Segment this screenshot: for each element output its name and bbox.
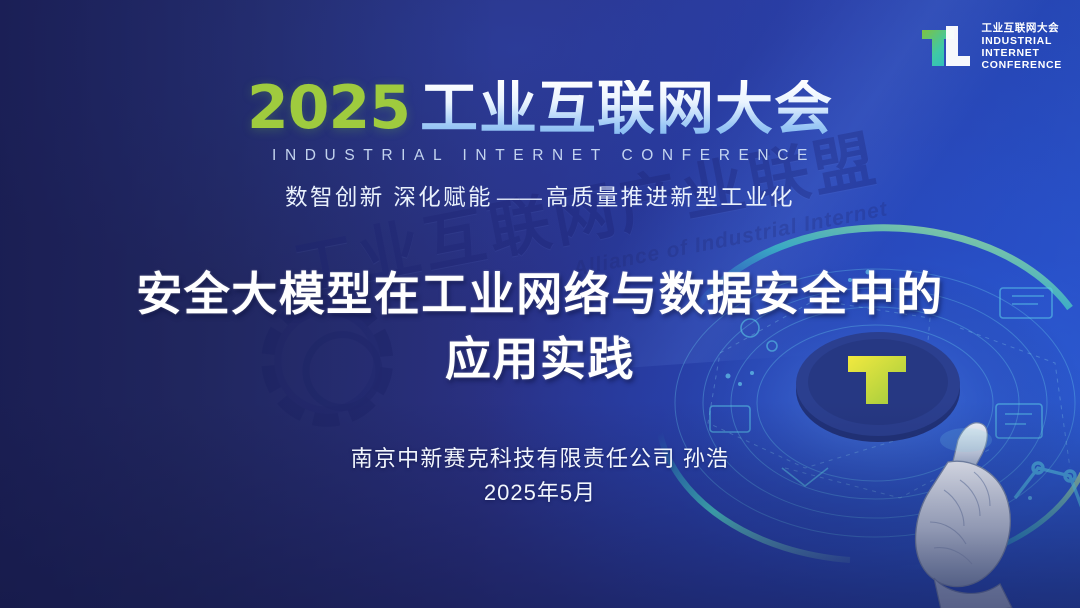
corner-logo-en-2: INTERNET	[981, 47, 1062, 59]
presenter-organization: 南京中新赛克科技有限责任公司 孙浩	[0, 442, 1080, 476]
title-line-2: 应用实践	[0, 327, 1080, 392]
event-logo-year: 2025	[247, 78, 410, 138]
event-slogan-dash: ——	[493, 185, 546, 210]
event-logo-row: 2025 工业互联网大会	[0, 78, 1080, 138]
presenter-byline: 南京中新赛克科技有限责任公司 孙浩 2025年5月	[0, 442, 1080, 510]
event-slogan: 数智创新 深化赋能——高质量推进新型工业化	[0, 180, 1080, 212]
event-slogan-left: 数智创新 深化赋能	[285, 185, 493, 210]
corner-logo-en-1: INDUSTRIAL	[981, 35, 1062, 47]
presentation-title: 安全大模型在工业网络与数据安全中的 应用实践	[0, 262, 1080, 393]
event-logo-en-title: INDUSTRIAL INTERNET CONFERENCE	[0, 147, 1080, 165]
presentation-date: 2025年5月	[0, 476, 1080, 510]
event-logo-cn-title: 工业互联网大会	[412, 80, 833, 138]
corner-logo-en-3: CONFERENCE	[981, 59, 1062, 71]
corner-conference-logo: 工业互联网大会 INDUSTRIAL INTERNET CONFERENCE	[920, 22, 1062, 72]
title-line-1: 安全大模型在工业网络与数据安全中的	[0, 262, 1080, 327]
event-slogan-right: 高质量推进新型工业化	[546, 185, 795, 210]
presentation-slide: 工业互联网产业联盟 Alliance of Industrial Interne…	[0, 0, 1080, 608]
event-logo-block: 2025 工业互联网大会 INDUSTRIAL INTERNET CONFERE…	[0, 78, 1080, 212]
corner-logo-cn: 工业互联网大会	[981, 22, 1062, 34]
tl-monogram-icon	[920, 22, 970, 72]
